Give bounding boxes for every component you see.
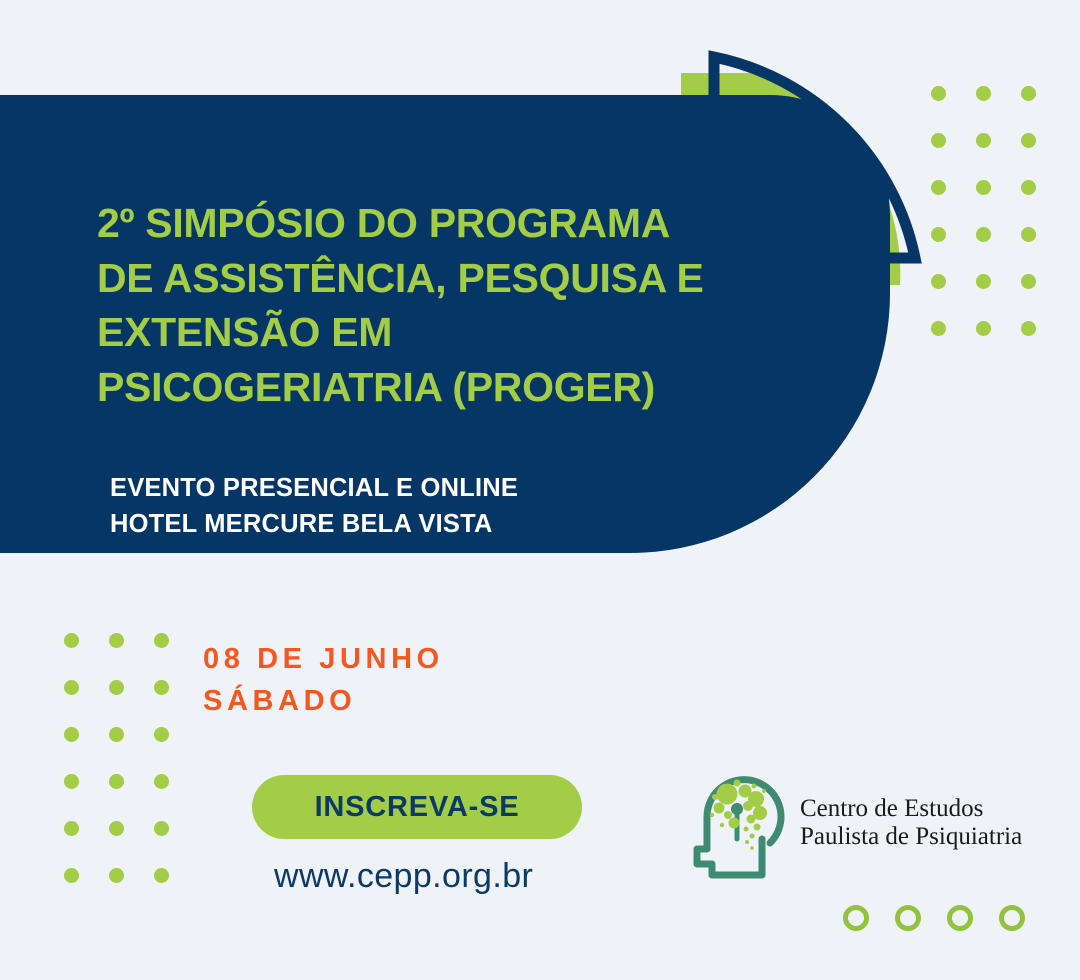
decor-dot	[931, 86, 946, 101]
decor-dot	[109, 633, 124, 648]
decor-dot	[154, 633, 169, 648]
decor-dot	[976, 86, 991, 101]
register-button[interactable]: INSCREVA-SE	[252, 775, 582, 839]
decor-dot	[109, 774, 124, 789]
decor-dot	[154, 680, 169, 695]
decor-dot	[1021, 227, 1036, 242]
decor-dot	[976, 274, 991, 289]
title-line: DE ASSISTÊNCIA, PESQUISA E	[97, 251, 777, 306]
decor-dot	[64, 633, 79, 648]
decor-dot	[1021, 133, 1036, 148]
organization-logo: Centro de Estudos Paulista de Psiquiatri…	[690, 763, 1020, 883]
decor-dot	[1021, 274, 1036, 289]
decor-dot	[976, 180, 991, 195]
decor-dot	[1021, 321, 1036, 336]
event-date-day: 08 DE JUNHO	[203, 638, 444, 680]
subtitle-line: HOTEL MERCURE BELA VISTA	[110, 506, 518, 542]
decor-dot	[154, 868, 169, 883]
decor-dot	[1021, 180, 1036, 195]
decor-dot	[154, 774, 169, 789]
head-brain-dots-icon	[690, 767, 792, 879]
title-line: 2º SIMPÓSIO DO PROGRAMA	[97, 196, 777, 251]
decor-ring	[999, 905, 1025, 931]
decor-dot	[1021, 86, 1036, 101]
decor-dot	[976, 227, 991, 242]
event-subtitle: EVENTO PRESENCIAL E ONLINE HOTEL MERCURE…	[110, 470, 518, 542]
decor-dot	[64, 774, 79, 789]
organization-name-line: Paulista de Psiquiatria	[800, 823, 1022, 852]
decor-dot	[976, 133, 991, 148]
decor-dot	[976, 321, 991, 336]
event-date: 08 DE JUNHO SÁBADO	[203, 638, 444, 722]
poster-canvas: 2º SIMPÓSIO DO PROGRAMA DE ASSISTÊNCIA, …	[0, 0, 1080, 980]
decor-dot	[931, 133, 946, 148]
subtitle-line: EVENTO PRESENCIAL E ONLINE	[110, 470, 518, 506]
decor-dot	[64, 727, 79, 742]
decor-dot	[931, 227, 946, 242]
decor-ring	[895, 905, 921, 931]
decor-dot	[64, 680, 79, 695]
decor-dot	[931, 321, 946, 336]
decor-dot	[109, 680, 124, 695]
decor-dot	[931, 274, 946, 289]
organization-name: Centro de Estudos Paulista de Psiquiatri…	[800, 795, 1022, 852]
decor-dot	[154, 727, 169, 742]
decor-dot	[64, 868, 79, 883]
ring-row	[843, 905, 1025, 931]
decor-dot	[931, 180, 946, 195]
dot-grid-top-right	[931, 86, 1066, 368]
decor-ring	[947, 905, 973, 931]
website-link[interactable]: www.cepp.org.br	[274, 857, 533, 896]
decor-dot	[109, 821, 124, 836]
event-date-weekday: SÁBADO	[203, 680, 444, 722]
decor-dot	[109, 868, 124, 883]
decor-dot	[154, 821, 169, 836]
decor-dot	[64, 821, 79, 836]
title-line: PSICOGERIATRIA (PROGER)	[97, 360, 777, 415]
page-title: 2º SIMPÓSIO DO PROGRAMA DE ASSISTÊNCIA, …	[97, 196, 777, 414]
organization-name-line: Centro de Estudos	[800, 795, 1022, 824]
title-line: EXTENSÃO EM	[97, 305, 777, 360]
decor-dot	[109, 727, 124, 742]
decor-ring	[843, 905, 869, 931]
dot-grid-bottom-left	[64, 633, 199, 915]
